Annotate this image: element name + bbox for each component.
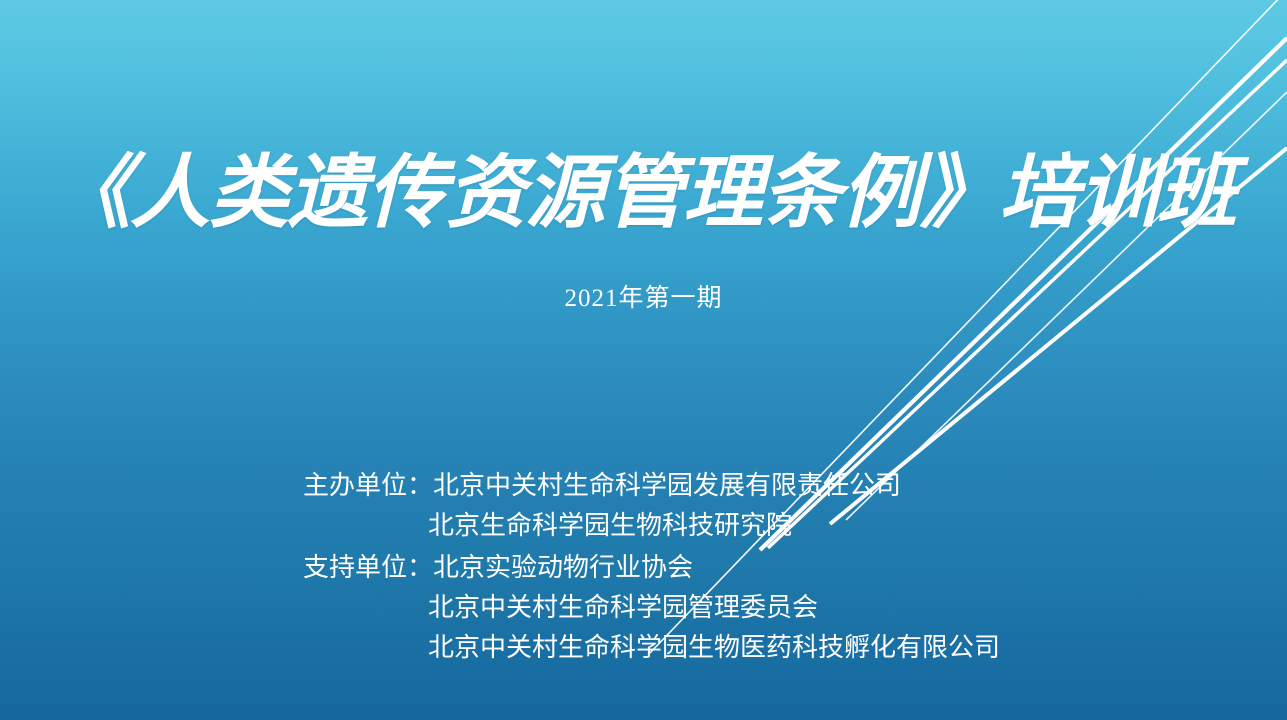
- organizer-line-1: 主办单位：北京中关村生命科学园发展有限责任公司: [303, 466, 1063, 506]
- credits-block: 主办单位：北京中关村生命科学园发展有限责任公司 北京生命科学园生物科技研究院 支…: [303, 466, 1063, 668]
- supporter-line-2: 北京中关村生命科学园管理委员会: [303, 588, 1063, 628]
- supporter-line-3: 北京中关村生命科学园生物医药科技孵化有限公司: [303, 628, 1063, 668]
- presentation-slide: 《人类遗传资源管理条例》培训班 2021年第一期 主办单位：北京中关村生命科学园…: [0, 0, 1287, 720]
- organizer-line-2: 北京生命科学园生物科技研究院: [303, 506, 1063, 546]
- supporter-line-1: 支持单位：北京实验动物行业协会: [303, 548, 1063, 588]
- slide-title: 《人类遗传资源管理条例》培训班: [0, 150, 1287, 236]
- slide-subtitle: 2021年第一期: [0, 278, 1287, 314]
